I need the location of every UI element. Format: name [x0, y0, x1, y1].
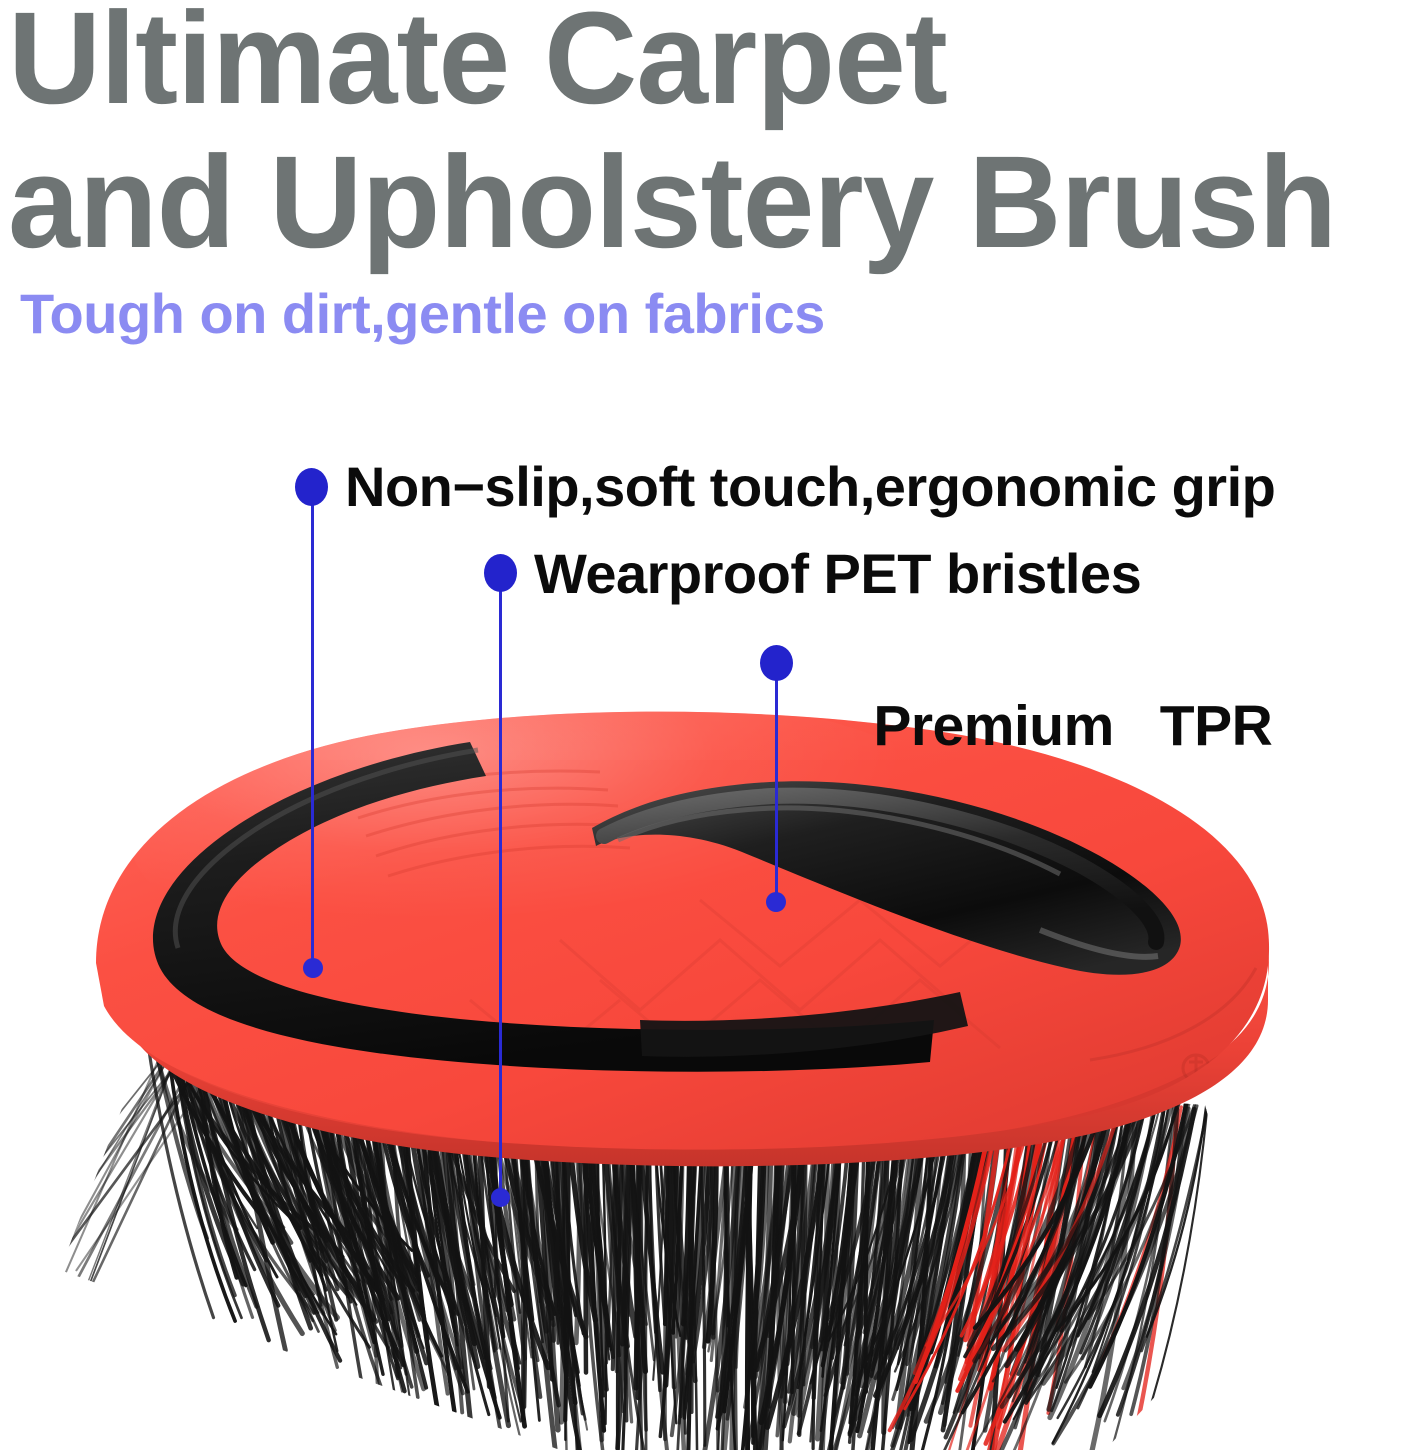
infographic-canvas: Ultimate Carpet and Upholstery Brush Tou…	[0, 0, 1418, 1450]
leader-endpoint-3	[766, 892, 786, 912]
leader-endpoint-2	[491, 1188, 510, 1207]
callout-bullet-1	[295, 468, 328, 506]
moulding-mark	[1183, 1055, 1209, 1081]
callout-label-3: Premium TPR	[873, 694, 1272, 758]
brush-bristles	[0, 1026, 1208, 1450]
callout-bullet-3	[760, 645, 793, 681]
callout-2: Wearproof PET bristles	[534, 543, 1141, 605]
tpr-trim-tail	[640, 992, 968, 1057]
callout-label-2: Wearproof PET bristles	[534, 543, 1141, 605]
headline-block: Ultimate Carpet and Upholstery Brush Tou…	[8, 0, 1418, 344]
callout-bullet-2	[484, 554, 517, 592]
page-subtitle: Tough on dirt,gentle on fabrics	[20, 284, 1418, 344]
leader-line-1	[311, 500, 314, 968]
brush-ferrule	[126, 948, 1269, 1166]
callout-1: Non−slip,soft touch,ergonomic grip	[345, 456, 1275, 518]
leader-line-2	[499, 585, 502, 1199]
leader-line-3	[775, 675, 778, 903]
page-title-line-2: and Upholstery Brush	[8, 130, 1397, 274]
callout-label-1: Non−slip,soft touch,ergonomic grip	[345, 456, 1275, 518]
callout-3: Premium TPR	[812, 630, 1272, 822]
leader-endpoint-1	[303, 958, 323, 978]
page-title-line-1: Ultimate Carpet	[8, 0, 1397, 130]
